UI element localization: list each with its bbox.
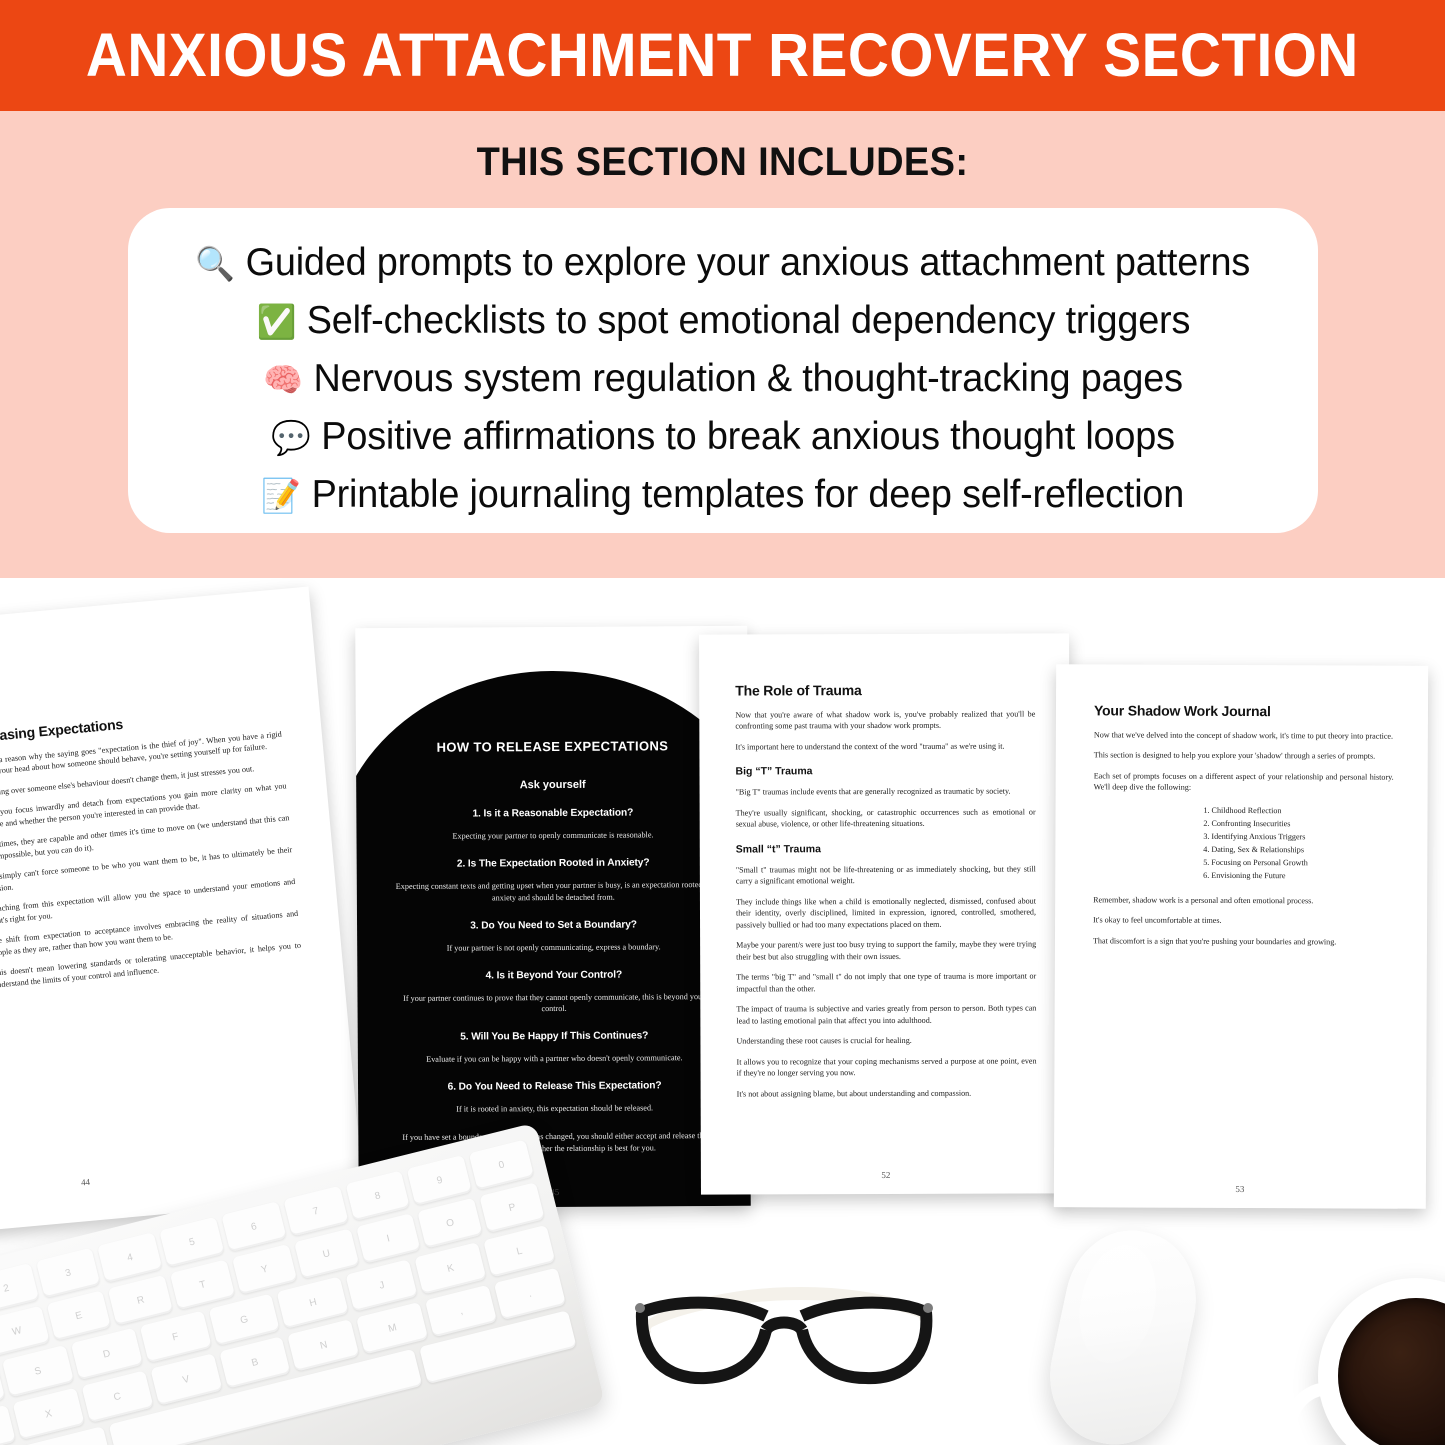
key: P	[479, 1182, 544, 1233]
question: 6. Do You Need to Release This Expectati…	[392, 1080, 717, 1093]
paragraph: It's not about assigning blame, but abou…	[737, 1087, 1037, 1100]
brain-icon: 🧠	[263, 351, 303, 408]
answer: If your partner continues to prove that …	[391, 991, 716, 1017]
question: 1. Is it a Reasonable Expectation?	[390, 807, 715, 820]
memo-icon: 📝	[262, 467, 302, 524]
list-item-label: Positive affirmations to break anxious t…	[321, 408, 1175, 465]
includes-card: 🔍 Guided prompts to explore your anxious…	[128, 208, 1318, 533]
paragraph: Understanding these root causes is cruci…	[736, 1035, 1036, 1048]
coffee-liquid	[1338, 1298, 1445, 1445]
list-item: Childhood Reflection	[1212, 804, 1394, 818]
page-45-subtitle: Ask yourself	[390, 778, 715, 792]
paragraph: It's important here to understand the co…	[735, 740, 1035, 753]
list-item: Confronting Insecurities	[1211, 817, 1393, 831]
key: 6	[221, 1201, 286, 1252]
key: E	[46, 1290, 111, 1341]
list-item: Dating, Sex & Relationships	[1211, 843, 1393, 857]
paragraph: It's okay to feel uncomfortable at times…	[1093, 914, 1393, 927]
list-item: 💬 Positive affirmations to break anxious…	[271, 408, 1175, 466]
paragraph: The impact of trauma is subjective and v…	[736, 1003, 1036, 1027]
list-item: Identifying Anxious Triggers	[1211, 830, 1393, 844]
paragraph: "Big T" traumas include events that are …	[736, 786, 1036, 799]
question: 4. Is it Beyond Your Control?	[391, 969, 716, 982]
document-page-44: Releasing Expectations There's a reason …	[0, 586, 364, 1231]
black-arch-shape: HOW TO RELEASE EXPECTATIONS Ask yourself…	[355, 670, 751, 1209]
paragraph: That discomfort is a sign that you're pu…	[1093, 935, 1393, 948]
key: 4	[97, 1232, 162, 1283]
coffee-cup	[1318, 1278, 1445, 1445]
key: 2	[0, 1263, 39, 1314]
prompt-topic-list: Childhood Reflection Confronting Insecur…	[1093, 803, 1393, 883]
product-mockup-photo: Releasing Expectations There's a reason …	[0, 578, 1445, 1445]
paragraph: This section is designed to help you exp…	[1094, 750, 1394, 763]
subheading-small-t: Small “t” Trauma	[736, 842, 1036, 855]
eyeglasses	[620, 1268, 950, 1398]
key: O	[418, 1198, 483, 1249]
list-item-label: Self-checklists to spot emotional depend…	[306, 292, 1189, 349]
paragraph: Maybe your parent/s were just too busy t…	[736, 939, 1036, 963]
poster-canvas: ANXIOUS ATTACHMENT RECOVERY SECTION THIS…	[0, 0, 1445, 1445]
bullet-list: 🔍 Guided prompts to explore your anxious…	[128, 234, 1318, 524]
document-page-52: The Role of Trauma Now that you're aware…	[699, 633, 1071, 1194]
page-45-title: HOW TO RELEASE EXPECTATIONS	[390, 738, 715, 755]
list-item-label: Printable journaling templates for deep …	[312, 466, 1185, 523]
page-number: 52	[701, 1169, 1071, 1180]
mouse	[1037, 1219, 1209, 1445]
list-item: 🔍 Guided prompts to explore your anxious…	[196, 234, 1251, 292]
magnifier-icon: 🔍	[196, 235, 236, 292]
answer: Evaluate if you can be happy with a part…	[392, 1052, 717, 1066]
speech-balloon-icon: 💬	[271, 409, 311, 466]
check-mark-icon: ✅	[256, 293, 296, 350]
key: 3	[35, 1247, 100, 1298]
key: T	[170, 1259, 235, 1310]
paragraph: Each set of prompts focuses on a differe…	[1094, 770, 1394, 794]
header-banner: ANXIOUS ATTACHMENT RECOVERY SECTION	[0, 0, 1445, 111]
page-52-title: The Role of Trauma	[735, 681, 1035, 698]
answer: Expecting constant texts and getting ups…	[391, 879, 716, 905]
list-item: Envisioning the Future	[1211, 869, 1393, 883]
paragraph: Now that we've delved into the concept o…	[1094, 729, 1394, 742]
paragraph: They're usually significant, shocking, o…	[736, 806, 1036, 830]
answer: Expecting your partner to openly communi…	[390, 829, 715, 843]
page-title: ANXIOUS ATTACHMENT RECOVERY SECTION	[86, 25, 1359, 86]
key: 8	[345, 1170, 410, 1221]
list-item: 📝 Printable journaling templates for dee…	[262, 466, 1185, 524]
list-item-label: Nervous system regulation & thought-trac…	[314, 350, 1183, 407]
key: R	[108, 1275, 173, 1326]
paragraph: It allows you to recognize that your cop…	[736, 1055, 1036, 1079]
key: 5	[159, 1217, 224, 1268]
list-item: Focusing on Personal Growth	[1211, 856, 1393, 870]
document-page-53: Your Shadow Work Journal Now that we've …	[1054, 664, 1428, 1209]
key: 0	[469, 1139, 534, 1190]
answer: If your partner is not openly communicat…	[391, 941, 716, 955]
question: 3. Do You Need to Set a Boundary?	[391, 919, 716, 932]
key: 7	[283, 1186, 348, 1237]
document-page-45: HOW TO RELEASE EXPECTATIONS Ask yourself…	[355, 626, 751, 1208]
list-item-label: Guided prompts to explore your anxious a…	[246, 234, 1250, 291]
list-item: 🧠 Nervous system regulation & thought-tr…	[263, 350, 1183, 408]
hinge-left-icon	[635, 1303, 645, 1313]
subheading-big-t: Big “T” Trauma	[735, 765, 1035, 778]
section-heading: THIS SECTION INCLUDES:	[36, 140, 1409, 185]
hinge-right-icon	[923, 1303, 933, 1313]
key: Y	[232, 1244, 297, 1295]
page-53-title: Your Shadow Work Journal	[1094, 702, 1394, 719]
paragraph: Now that you're aware of what shadow wor…	[735, 708, 1035, 732]
question: 5. Will You Be Happy If This Continues?	[392, 1030, 717, 1043]
paragraph: Remember, shadow work is a personal and …	[1093, 894, 1393, 907]
key: 9	[407, 1155, 472, 1206]
question: 2. Is The Expectation Rooted in Anxiety?	[391, 857, 716, 870]
paragraph: The terms "big T" and "small t" do not i…	[736, 971, 1036, 995]
paragraph: "Small t" traumas might not be life-thre…	[736, 863, 1036, 887]
key: U	[294, 1228, 359, 1279]
list-item: ✅ Self-checklists to spot emotional depe…	[256, 292, 1190, 350]
page-number: 53	[1054, 1183, 1426, 1195]
key: W	[0, 1306, 50, 1357]
key: I	[356, 1213, 421, 1264]
paragraph: They include things like when a child is…	[736, 895, 1036, 931]
answer: If it is rooted in anxiety, this expecta…	[392, 1102, 717, 1116]
